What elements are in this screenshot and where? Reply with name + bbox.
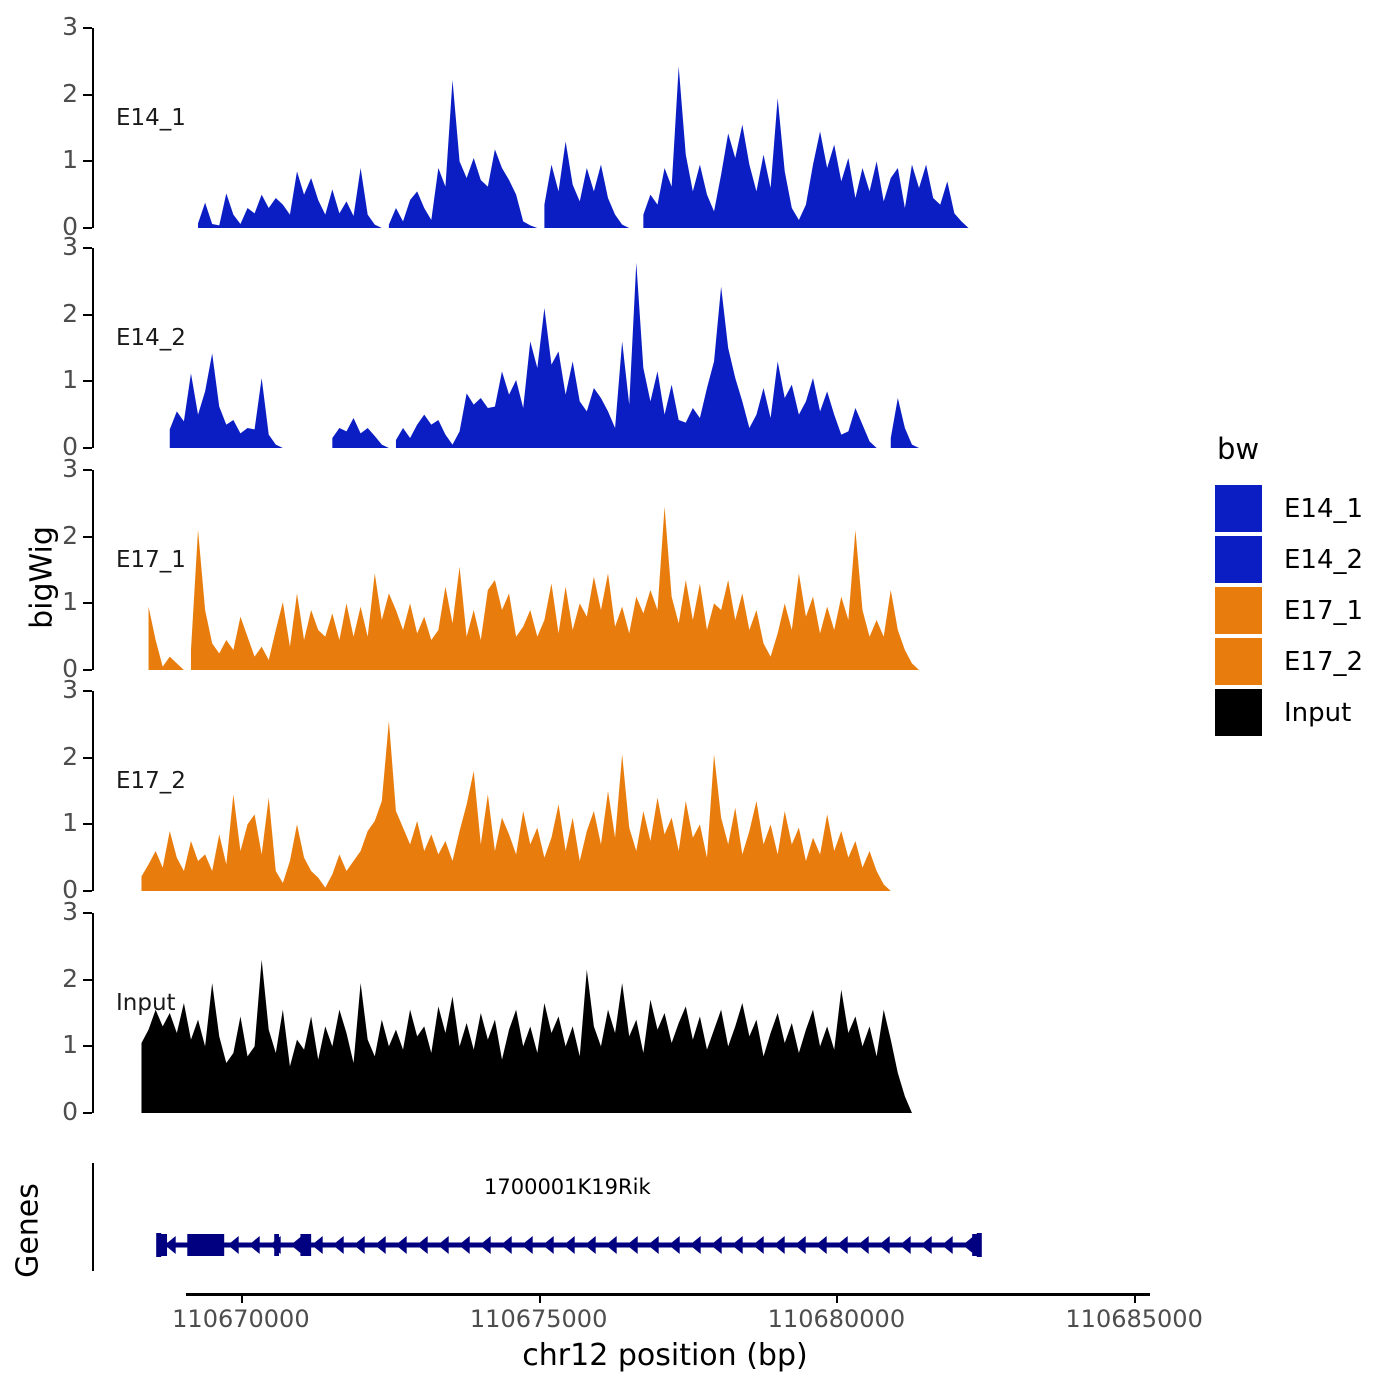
y-tick — [83, 890, 92, 892]
y-tick-label: 3 — [18, 12, 78, 41]
legend-item-e17_1[interactable]: E17_1 — [1215, 585, 1363, 636]
y-tick — [83, 602, 92, 604]
coverage-area-input — [92, 913, 1152, 1113]
coverage-area-e14_1 — [92, 28, 1152, 228]
legend-swatch-e14_1 — [1215, 485, 1262, 532]
y-tick-label: 3 — [18, 897, 78, 926]
legend-label-e14_1: E14_1 — [1284, 494, 1363, 524]
y-tick-label: 2 — [18, 79, 78, 108]
legend-swatch-e17_2 — [1215, 638, 1262, 685]
y-tick — [83, 757, 92, 759]
y-tick-label: 1 — [18, 587, 78, 616]
y-tick — [83, 380, 92, 382]
x-tick — [1134, 1293, 1136, 1303]
x-tick-label: 110675000 — [439, 1305, 639, 1333]
y-tick-label: 3 — [18, 675, 78, 704]
y-tick — [83, 227, 92, 229]
x-tick — [539, 1293, 541, 1303]
legend: bw E14_1E14_2E17_1E17_2Input — [1215, 432, 1363, 738]
y-tick-label: 2 — [18, 521, 78, 550]
y-tick-label: 3 — [18, 454, 78, 483]
y-tick — [83, 1045, 92, 1047]
coverage-area-e14_2 — [92, 248, 1152, 448]
track-panel-e17_1: 0123E17_1 — [92, 470, 1152, 670]
track-panel-e14_2: 0123E14_2 — [92, 248, 1152, 448]
y-tick — [83, 912, 92, 914]
y-tick — [83, 979, 92, 981]
y-axis-title-bigwig: bigWig — [25, 478, 60, 678]
x-tick-label: 110685000 — [1034, 1305, 1234, 1333]
y-tick — [83, 823, 92, 825]
legend-label-e17_2: E17_2 — [1284, 647, 1363, 677]
coverage-area-e17_2 — [92, 691, 1152, 891]
y-tick-label: 1 — [18, 145, 78, 174]
y-tick — [83, 94, 92, 96]
legend-label-input: Input — [1284, 698, 1351, 728]
x-tick-label: 110680000 — [736, 1305, 936, 1333]
y-axis-title-genes: Genes — [11, 1141, 46, 1321]
y-tick-label: 3 — [18, 232, 78, 261]
track-panel-e17_2: 0123E17_2 — [92, 691, 1152, 891]
y-tick-label: 0 — [18, 1097, 78, 1126]
x-tick-label: 110670000 — [141, 1305, 341, 1333]
y-tick — [83, 690, 92, 692]
legend-items: E14_1E14_2E17_1E17_2Input — [1215, 483, 1363, 738]
y-tick-label: 1 — [18, 1030, 78, 1059]
y-tick — [83, 536, 92, 538]
genes-panel: 1700001K19Rik — [92, 1163, 1152, 1288]
track-panel-e14_1: 0123E14_1 — [92, 28, 1152, 228]
legend-swatch-e14_2 — [1215, 536, 1262, 583]
x-tick — [241, 1293, 243, 1303]
gene-model[interactable] — [92, 1225, 1152, 1265]
legend-title: bw — [1217, 432, 1363, 466]
legend-swatch-e17_1 — [1215, 587, 1262, 634]
y-tick-label: 1 — [18, 808, 78, 837]
x-axis-line — [186, 1293, 1150, 1296]
y-tick — [83, 669, 92, 671]
legend-label-e14_2: E14_2 — [1284, 545, 1363, 575]
legend-swatch-input — [1215, 689, 1262, 736]
legend-item-e14_2[interactable]: E14_2 — [1215, 534, 1363, 585]
track-panel-input: 0123Input — [92, 913, 1152, 1113]
gene-label: 1700001K19Rik — [484, 1175, 651, 1199]
x-axis-title: chr12 position (bp) — [180, 1338, 1150, 1373]
y-tick — [83, 469, 92, 471]
coverage-area-e17_1 — [92, 470, 1152, 670]
y-tick — [83, 447, 92, 449]
legend-item-e17_2[interactable]: E17_2 — [1215, 636, 1363, 687]
y-tick-label: 2 — [18, 964, 78, 993]
y-tick — [83, 160, 92, 162]
y-tick-label: 1 — [18, 365, 78, 394]
y-tick — [83, 1112, 92, 1114]
legend-label-e17_1: E17_1 — [1284, 596, 1363, 626]
y-tick — [83, 247, 92, 249]
y-tick-label: 2 — [18, 299, 78, 328]
y-tick — [83, 27, 92, 29]
x-tick — [836, 1293, 838, 1303]
legend-item-e14_1[interactable]: E14_1 — [1215, 483, 1363, 534]
legend-item-input[interactable]: Input — [1215, 687, 1363, 738]
y-tick-label: 2 — [18, 742, 78, 771]
y-tick — [83, 314, 92, 316]
